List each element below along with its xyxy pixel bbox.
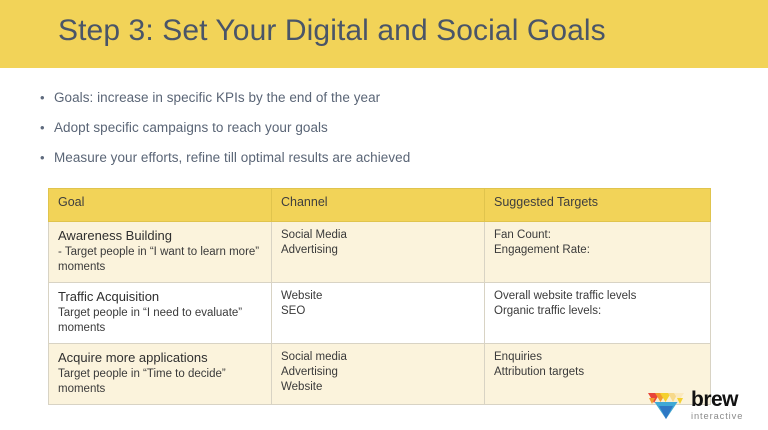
goal-subtitle: - Target people in “I want to learn more…: [58, 245, 263, 274]
bullet-text: Measure your efforts, refine till optima…: [54, 148, 410, 167]
goal-title: Acquire more applications: [58, 350, 263, 366]
goal-title: Traffic Acquisition: [58, 289, 263, 305]
channel-line: Website: [281, 380, 476, 395]
brew-funnel-icon: [646, 389, 686, 421]
column-header-goal: Goal: [49, 189, 272, 222]
cell-targets: Fan Count: Engagement Rate:: [485, 222, 711, 283]
channel-line: Advertising: [281, 243, 476, 258]
target-line: Overall website traffic levels: [494, 289, 702, 304]
bullet-dot-icon: •: [40, 148, 54, 167]
table-header-row: Goal Channel Suggested Targets: [49, 189, 711, 222]
page-title: Step 3: Set Your Digital and Social Goal…: [58, 14, 606, 48]
cell-goal: Acquire more applications Target people …: [49, 344, 272, 405]
list-item: • Adopt specific campaigns to reach your…: [40, 118, 700, 137]
channel-line: Social Media: [281, 228, 476, 243]
target-line: Fan Count:: [494, 228, 702, 243]
list-item: • Measure your efforts, refine till opti…: [40, 148, 700, 167]
bullet-list: • Goals: increase in specific KPIs by th…: [40, 88, 700, 178]
goal-subtitle: Target people in “Time to decide” moment…: [58, 367, 263, 396]
channel-line: Social media: [281, 350, 476, 365]
cell-goal: Awareness Building - Target people in “I…: [49, 222, 272, 283]
target-line: Attribution targets: [494, 365, 702, 380]
slide-title-band: Step 3: Set Your Digital and Social Goal…: [0, 0, 768, 68]
target-line: Organic traffic levels:: [494, 304, 702, 319]
logo-name: brew: [691, 389, 743, 410]
goal-title: Awareness Building: [58, 228, 263, 244]
bullet-dot-icon: •: [40, 88, 54, 107]
table-row: Acquire more applications Target people …: [49, 344, 711, 405]
bullet-text: Adopt specific campaigns to reach your g…: [54, 118, 328, 137]
target-line: Enquiries: [494, 350, 702, 365]
table-row: Awareness Building - Target people in “I…: [49, 222, 711, 283]
cell-channel: Social media Advertising Website: [272, 344, 485, 405]
column-header-suggested-targets: Suggested Targets: [485, 189, 711, 222]
bullet-text: Goals: increase in specific KPIs by the …: [54, 88, 380, 107]
column-header-channel: Channel: [272, 189, 485, 222]
table-row: Traffic Acquisition Target people in “I …: [49, 283, 711, 344]
goal-subtitle: Target people in “I need to evaluate” mo…: [58, 306, 263, 335]
brand-logo: brew interactive: [646, 386, 762, 424]
cell-channel: Social Media Advertising: [272, 222, 485, 283]
cell-channel: Website SEO: [272, 283, 485, 344]
bullet-dot-icon: •: [40, 118, 54, 137]
channel-line: Website: [281, 289, 476, 304]
channel-line: SEO: [281, 304, 476, 319]
list-item: • Goals: increase in specific KPIs by th…: [40, 88, 700, 107]
cell-goal: Traffic Acquisition Target people in “I …: [49, 283, 272, 344]
logo-wordmark: brew interactive: [691, 389, 743, 421]
target-line: Engagement Rate:: [494, 243, 702, 258]
logo-tagline: interactive: [691, 412, 743, 421]
channel-line: Advertising: [281, 365, 476, 380]
cell-targets: Overall website traffic levels Organic t…: [485, 283, 711, 344]
goals-table: Goal Channel Suggested Targets Awareness…: [48, 188, 711, 405]
